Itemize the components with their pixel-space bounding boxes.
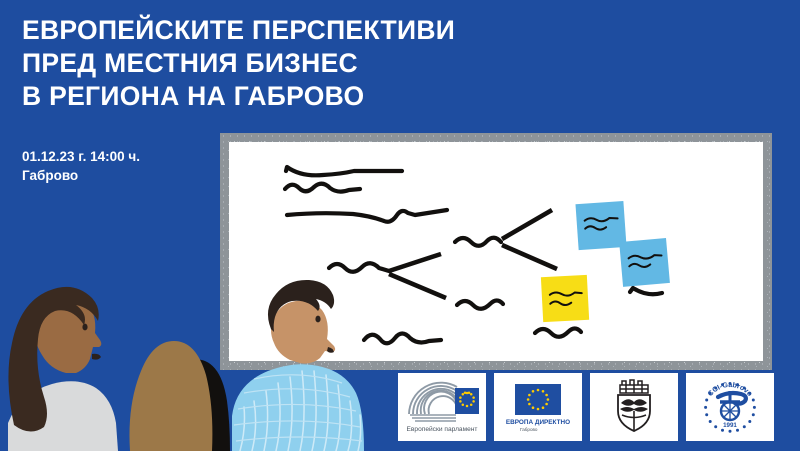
cci-gabrovo-mark: CCI-Gabrovo 1991 xyxy=(695,377,765,437)
europe-direct-mark: ЕВРОПА ДИРЕКТНО Габрово xyxy=(499,378,577,436)
eu-flag xyxy=(515,384,561,415)
middle-figure-hair xyxy=(129,341,212,451)
man-eye xyxy=(315,316,320,323)
event-datetime: 01.12.23 г. 14:00 ч. xyxy=(22,147,140,166)
scribble-group-top-left xyxy=(285,167,447,222)
title-line-2: ПРЕД МЕСТНИЯ БИЗНЕС xyxy=(22,47,492,80)
woman-lips xyxy=(92,354,101,360)
european-parliament-caption: Европейски парламент xyxy=(407,425,478,433)
hemicycle-arcs xyxy=(409,383,457,414)
cci-gabrovo-year: 1991 xyxy=(723,422,737,429)
figure-light-brown-hair xyxy=(129,341,230,451)
event-poster: ЕВРОПЕЙСКИТЕ ПЕРСПЕКТИВИ ПРЕД МЕСТНИЯ БИ… xyxy=(0,0,800,451)
mural-crown xyxy=(620,380,648,393)
gabrovo-coat-of-arms xyxy=(606,378,662,436)
logo-europe-direct: ЕВРОПА ДИРЕКТНО Габрово xyxy=(494,373,582,441)
figure-woman-dark-hair xyxy=(8,287,118,451)
cci-emblem xyxy=(718,391,746,420)
figure-man-blue-sweater xyxy=(232,280,364,451)
blue-sticky-note-1 xyxy=(575,201,626,250)
hemicycle-steps xyxy=(410,415,456,421)
partner-logos: Европейски парламент ЕВРОПА ДИРЕКТНО Габ… xyxy=(398,373,774,441)
event-details: 01.12.23 г. 14:00 ч. Габрово xyxy=(22,147,140,185)
logo-cci-gabrovo: CCI-Gabrovo 1991 xyxy=(686,373,774,441)
man-face xyxy=(271,301,335,364)
title-line-1: ЕВРОПЕЙСКИТЕ ПЕРСПЕКТИВИ xyxy=(22,14,492,47)
europe-direct-subcaption: Габрово xyxy=(520,427,538,432)
event-location: Габрово xyxy=(22,166,140,185)
europe-direct-caption: ЕВРОПА ДИРЕКТНО xyxy=(506,419,570,426)
logo-european-parliament: Европейски парламент xyxy=(398,373,486,441)
title-line-3: В РЕГИОНА НА ГАБРОВО xyxy=(22,80,492,113)
page-title: ЕВРОПЕЙСКИТЕ ПЕРСПЕКТИВИ ПРЕД МЕСТНИЯ БИ… xyxy=(22,14,492,113)
woman-eye xyxy=(82,324,87,331)
logo-gabrovo-municipality xyxy=(590,373,678,441)
european-parliament-mark: Европейски парламент xyxy=(401,378,483,436)
